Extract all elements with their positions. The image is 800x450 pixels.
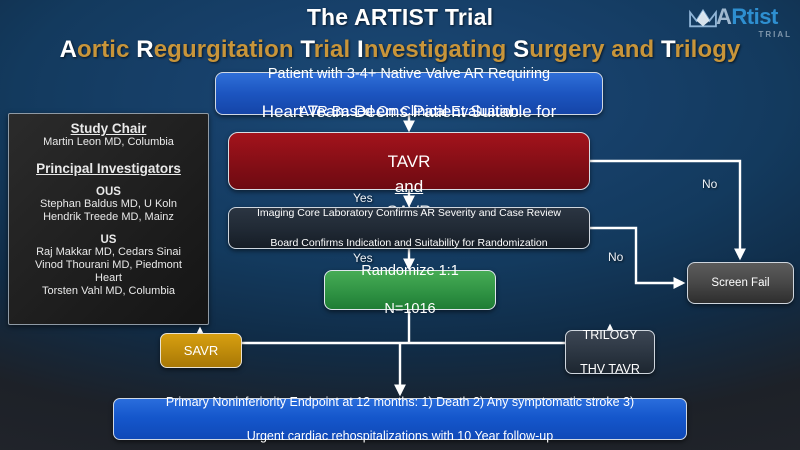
flow-node-endpoint-text: Primary Noninferiority Endpoint at 12 mo… xyxy=(114,394,686,445)
flow-node-trilogy-text: TRILOGYTHV TAVR xyxy=(566,327,654,378)
line2: Board Confirms Indication and Suitabilit… xyxy=(229,236,589,251)
flow-node-randomize[interactable]: Randomize 1:1N=1016 xyxy=(324,270,496,310)
line2-underline: and xyxy=(229,174,589,199)
edge-label-yes-imaging: Yes xyxy=(353,251,373,265)
line2: N=1016 xyxy=(325,300,495,319)
flow-node-screen-fail[interactable]: Screen Fail xyxy=(687,262,794,304)
flow-node-imaging-core-lab[interactable]: Imaging Core Laboratory Confirms AR Seve… xyxy=(228,207,590,249)
line1: TRILOGY xyxy=(566,327,654,344)
line1: Primary Noninferiority Endpoint at 12 mo… xyxy=(114,394,686,411)
flow-node-trilogy-thv-tavr[interactable]: TRILOGYTHV TAVR xyxy=(565,330,655,374)
line1: Randomize 1:1 xyxy=(325,262,495,281)
flow-node-savr-text: SAVR xyxy=(161,343,241,358)
flow-node-savr[interactable]: SAVR xyxy=(160,333,242,368)
flow-node-randomize-text: Randomize 1:1N=1016 xyxy=(325,262,495,319)
edge-label-no-imaging: No xyxy=(608,250,623,264)
line2-pre: TAVR xyxy=(229,149,589,174)
connector-heartteam-no-to-screenfail xyxy=(590,161,740,258)
edge-label-yes-heart-team: Yes xyxy=(353,191,373,205)
flow-node-imaging-text: Imaging Core Laboratory Confirms AR Seve… xyxy=(229,206,589,251)
flow-node-primary-endpoint[interactable]: Primary Noninferiority Endpoint at 12 mo… xyxy=(113,398,687,440)
line2: Urgent cardiac rehospitalizations with 1… xyxy=(114,428,686,445)
line1: Patient with 3-4+ Native Valve AR Requir… xyxy=(216,65,602,84)
edge-label-no-heart-team: No xyxy=(702,177,717,191)
line2: THV TAVR xyxy=(566,361,654,378)
connector-imaging-no-to-screenfail xyxy=(590,228,683,283)
flow-node-screen-fail-text: Screen Fail xyxy=(688,277,793,289)
line1: Heart Team Deems Patient Suitable for xyxy=(229,99,589,124)
slide-canvas: The ARTIST Trial Aortic Regurgitation Tr… xyxy=(0,0,800,450)
line1: Imaging Core Laboratory Confirms AR Seve… xyxy=(229,206,589,221)
flow-node-heart-team[interactable]: Heart Team Deems Patient Suitable forTAV… xyxy=(228,132,590,190)
